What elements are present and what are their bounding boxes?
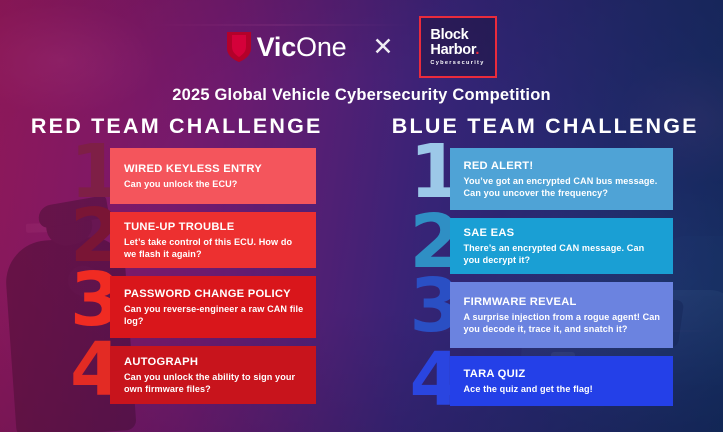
red-team-column: RED TEAM CHALLENGE 1 WIRED KEYLESS ENTRY… (0, 114, 362, 432)
list-item[interactable]: 4 AUTOGRAPH Can you unlock the ability t… (66, 346, 352, 404)
challenge-card[interactable]: TUNE-UP TROUBLE Let’s take control of th… (110, 212, 316, 268)
block-harbor-logo[interactable]: Block Harbor. Cybersecurity (419, 16, 497, 78)
list-item[interactable]: 2 SAE EAS There’s an encrypted CAN messa… (406, 218, 710, 274)
challenge-title: TARA QUIZ (464, 368, 664, 381)
challenge-columns: RED TEAM CHALLENGE 1 WIRED KEYLESS ENTRY… (0, 114, 723, 432)
challenge-description: There’s an encrypted CAN message. Can yo… (464, 242, 664, 266)
challenge-title: TUNE-UP TROUBLE (124, 221, 306, 234)
list-item[interactable]: 4 TARA QUIZ Ace the quiz and get the fla… (406, 356, 710, 406)
block-harbor-tagline: Cybersecurity (430, 60, 495, 66)
challenge-title: RED ALERT! (464, 160, 664, 173)
list-item[interactable]: 1 RED ALERT! You’ve got an encrypted CAN… (406, 148, 710, 210)
red-team-list: 1 WIRED KEYLESS ENTRY Can you unlock the… (0, 148, 362, 404)
vicone-shield-icon (226, 31, 252, 63)
challenge-title: SAE EAS (464, 227, 664, 240)
challenge-card[interactable]: AUTOGRAPH Can you unlock the ability to … (110, 346, 316, 404)
challenge-description: Can you unlock the ECU? (124, 178, 306, 190)
challenge-card[interactable]: TARA QUIZ Ace the quiz and get the flag! (450, 356, 674, 406)
block-harbor-line1: Block (430, 28, 495, 43)
logo-row: VicOne ✕ Block Harbor. Cybersecurity (0, 16, 723, 78)
challenge-description: You’ve got an encrypted CAN bus message.… (464, 175, 664, 199)
challenge-description: Let’s take control of this ECU. How do w… (124, 236, 306, 260)
vicone-vic: Vic (257, 32, 296, 62)
vicone-logo[interactable]: VicOne (226, 31, 347, 63)
challenge-card[interactable]: RED ALERT! You’ve got an encrypted CAN b… (450, 148, 674, 210)
blue-team-column: BLUE TEAM CHALLENGE 1 RED ALERT! You’ve … (362, 114, 723, 432)
challenge-title: FIRMWARE REVEAL (464, 296, 664, 309)
list-item[interactable]: 3 FIRMWARE REVEAL A surprise injection f… (406, 282, 710, 348)
challenge-card[interactable]: SAE EAS There’s an encrypted CAN message… (450, 218, 674, 274)
challenge-card[interactable]: PASSWORD CHANGE POLICY Can you reverse-e… (110, 276, 316, 338)
challenge-title: AUTOGRAPH (124, 356, 306, 369)
event-title: 2025 Global Vehicle Cybersecurity Compet… (0, 86, 723, 105)
block-harbor-line2: Harbor. (430, 43, 495, 58)
vicone-wordmark: VicOne (257, 34, 347, 61)
challenge-card[interactable]: WIRED KEYLESS ENTRY Can you unlock the E… (110, 148, 316, 204)
challenge-description: Can you reverse-engineer a raw CAN file … (124, 303, 306, 327)
challenge-description: Ace the quiz and get the flag! (464, 383, 664, 395)
cross-icon: ✕ (370, 35, 395, 60)
challenge-title: PASSWORD CHANGE POLICY (124, 288, 306, 301)
blue-team-list: 1 RED ALERT! You’ve got an encrypted CAN… (362, 148, 723, 406)
poster-root: VicOne ✕ Block Harbor. Cybersecurity 202… (0, 0, 723, 432)
challenge-description: A surprise injection from a rogue agent!… (464, 311, 664, 335)
challenge-title: WIRED KEYLESS ENTRY (124, 163, 306, 176)
red-team-heading: RED TEAM CHALLENGE (0, 114, 362, 139)
challenge-description: Can you unlock the ability to sign your … (124, 371, 306, 395)
challenge-card[interactable]: FIRMWARE REVEAL A surprise injection fro… (450, 282, 674, 348)
block-harbor-dot: . (475, 42, 479, 58)
vicone-one: One (296, 32, 346, 62)
